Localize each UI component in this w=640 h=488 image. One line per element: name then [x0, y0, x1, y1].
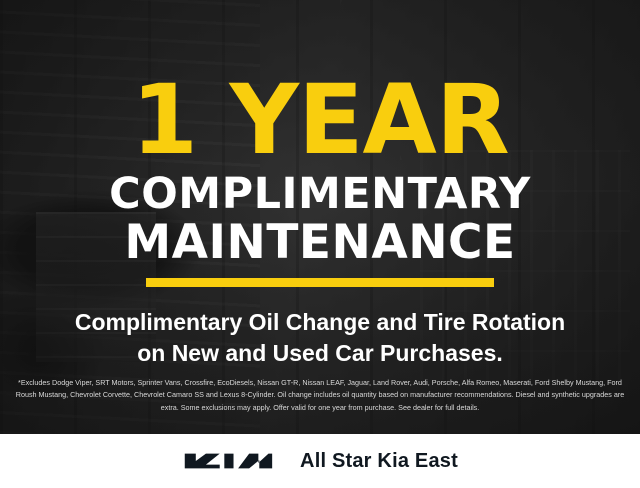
hero-section: 1 YEAR COMPLIMENTARY MAINTENANCE Complim…	[0, 0, 640, 434]
dealer-footer: All Star Kia East	[0, 434, 640, 488]
hero-content: 1 YEAR COMPLIMENTARY MAINTENANCE Complim…	[0, 0, 640, 434]
subheadline-line-2: on New and Used Car Purchases.	[137, 340, 503, 366]
headline-primary: 1 YEAR	[131, 76, 509, 165]
subheadline-line-1: Complimentary Oil Change and Tire Rotati…	[75, 309, 565, 335]
accent-divider-bar	[146, 278, 494, 287]
headline-secondary: COMPLIMENTARY	[109, 173, 531, 217]
legal-disclaimer: *Excludes Dodge Viper, SRT Motors, Sprin…	[14, 377, 626, 414]
kia-logo	[182, 449, 274, 473]
subheadline: Complimentary Oil Change and Tire Rotati…	[75, 307, 565, 368]
promo-banner: 1 YEAR COMPLIMENTARY MAINTENANCE Complim…	[0, 0, 640, 488]
headline-tertiary: MAINTENANCE	[124, 219, 515, 267]
dealer-name: All Star Kia East	[300, 450, 458, 473]
